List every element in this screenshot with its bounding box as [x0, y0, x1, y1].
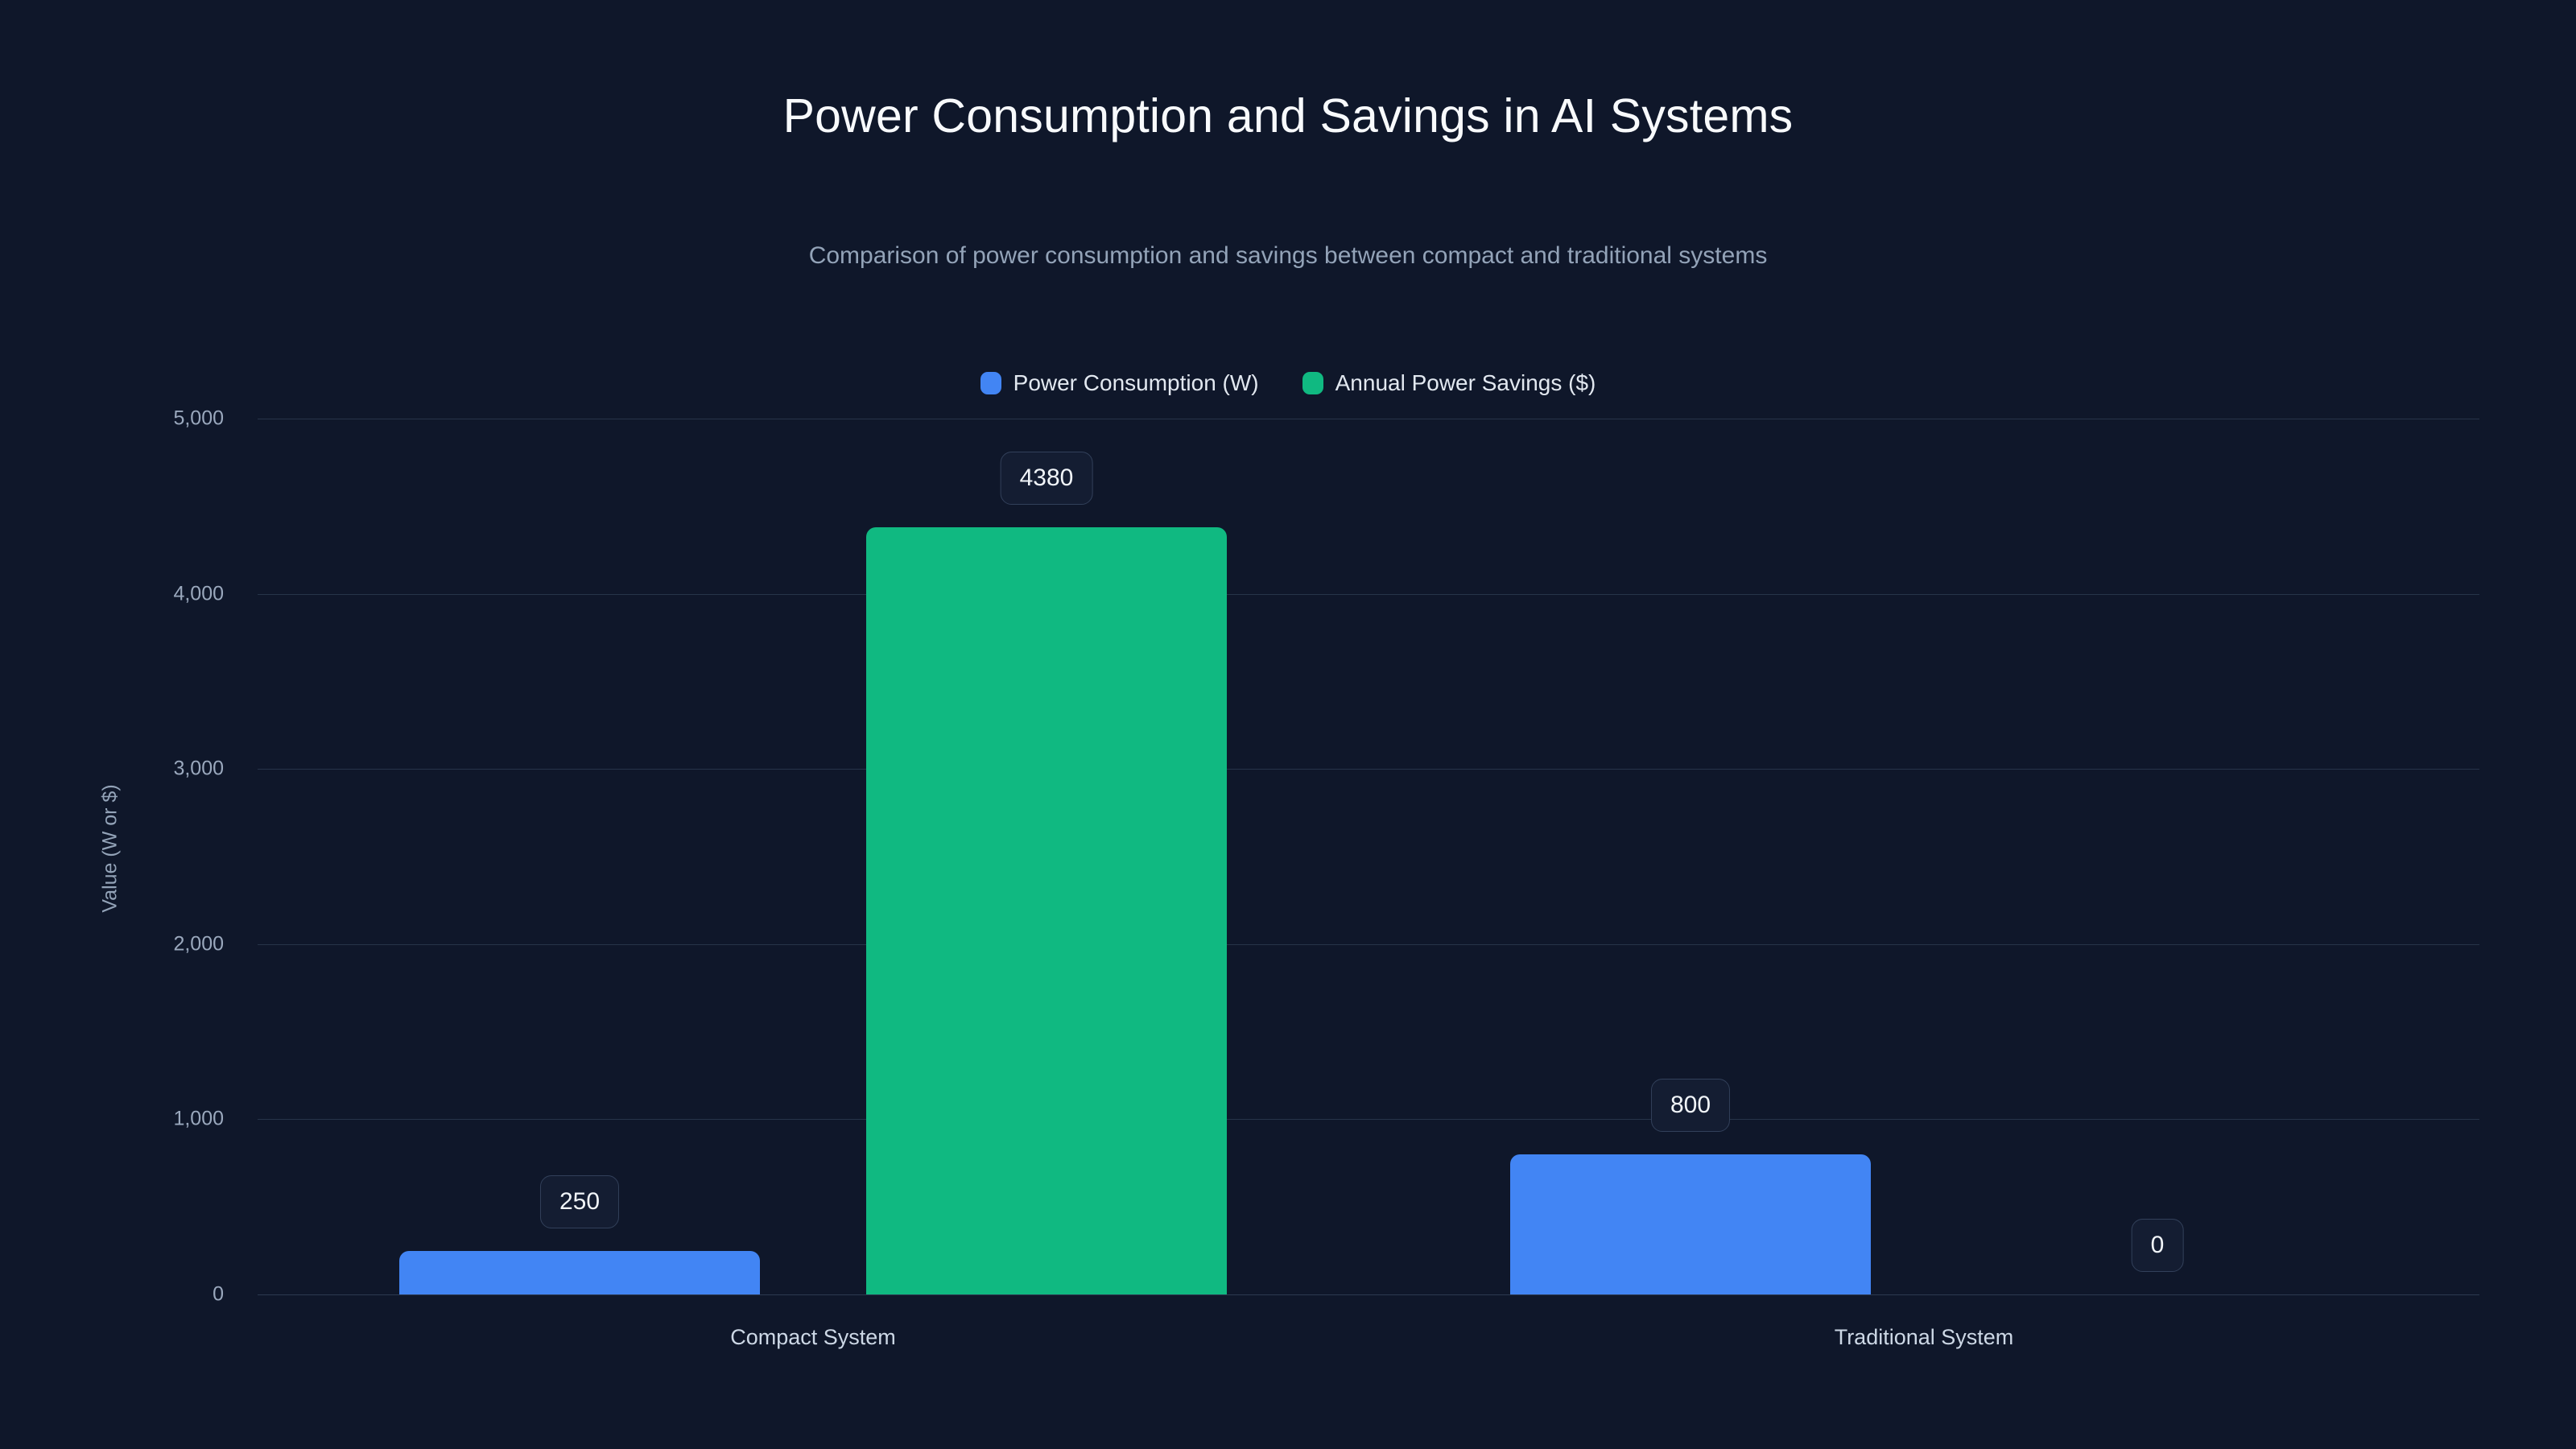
- y-axis-tick-label: 1,000: [173, 1109, 224, 1129]
- plot-area: 01,0002,0003,0004,0005,0002504380Compact…: [258, 419, 2479, 1294]
- legend-swatch-icon: [1302, 372, 1323, 394]
- bar-value-label: 250: [540, 1175, 619, 1228]
- bar[interactable]: [1510, 1154, 1871, 1294]
- legend-swatch-icon: [980, 372, 1001, 394]
- y-axis-tick-label: 4,000: [173, 584, 224, 604]
- legend-item-power-consumption[interactable]: Power Consumption (W): [980, 372, 1259, 394]
- legend-label: Annual Power Savings ($): [1335, 372, 1596, 394]
- gridline: [258, 419, 2479, 419]
- bar-value-label: 800: [1651, 1079, 1730, 1132]
- chart-subtitle: Comparison of power consumption and savi…: [0, 242, 2576, 270]
- chart-legend: Power Consumption (W) Annual Power Savin…: [0, 372, 2576, 394]
- x-axis-category-label: Traditional System: [1835, 1327, 2014, 1348]
- chart-container: Power Consumption and Savings in AI Syst…: [0, 0, 2576, 1449]
- gridline: [258, 594, 2479, 595]
- bar[interactable]: [866, 527, 1227, 1294]
- gridline: [258, 944, 2479, 945]
- gridline: [258, 1119, 2479, 1120]
- axis-baseline: [258, 1294, 2479, 1295]
- legend-item-annual-power-savings[interactable]: Annual Power Savings ($): [1302, 372, 1596, 394]
- bar-value-label: 4380: [1001, 452, 1093, 505]
- y-axis-tick-label: 0: [213, 1285, 224, 1305]
- y-axis-tick-label: 2,000: [173, 934, 224, 954]
- legend-label: Power Consumption (W): [1013, 372, 1259, 394]
- x-axis-category-label: Compact System: [730, 1327, 896, 1348]
- y-axis-title: Value (W or $): [101, 784, 121, 912]
- bar-value-label: 0: [2132, 1219, 2184, 1272]
- bar[interactable]: [399, 1251, 760, 1294]
- gridline: [258, 769, 2479, 770]
- y-axis-tick-label: 5,000: [173, 409, 224, 429]
- y-axis-tick-label: 3,000: [173, 759, 224, 779]
- chart-title: Power Consumption and Savings in AI Syst…: [0, 90, 2576, 142]
